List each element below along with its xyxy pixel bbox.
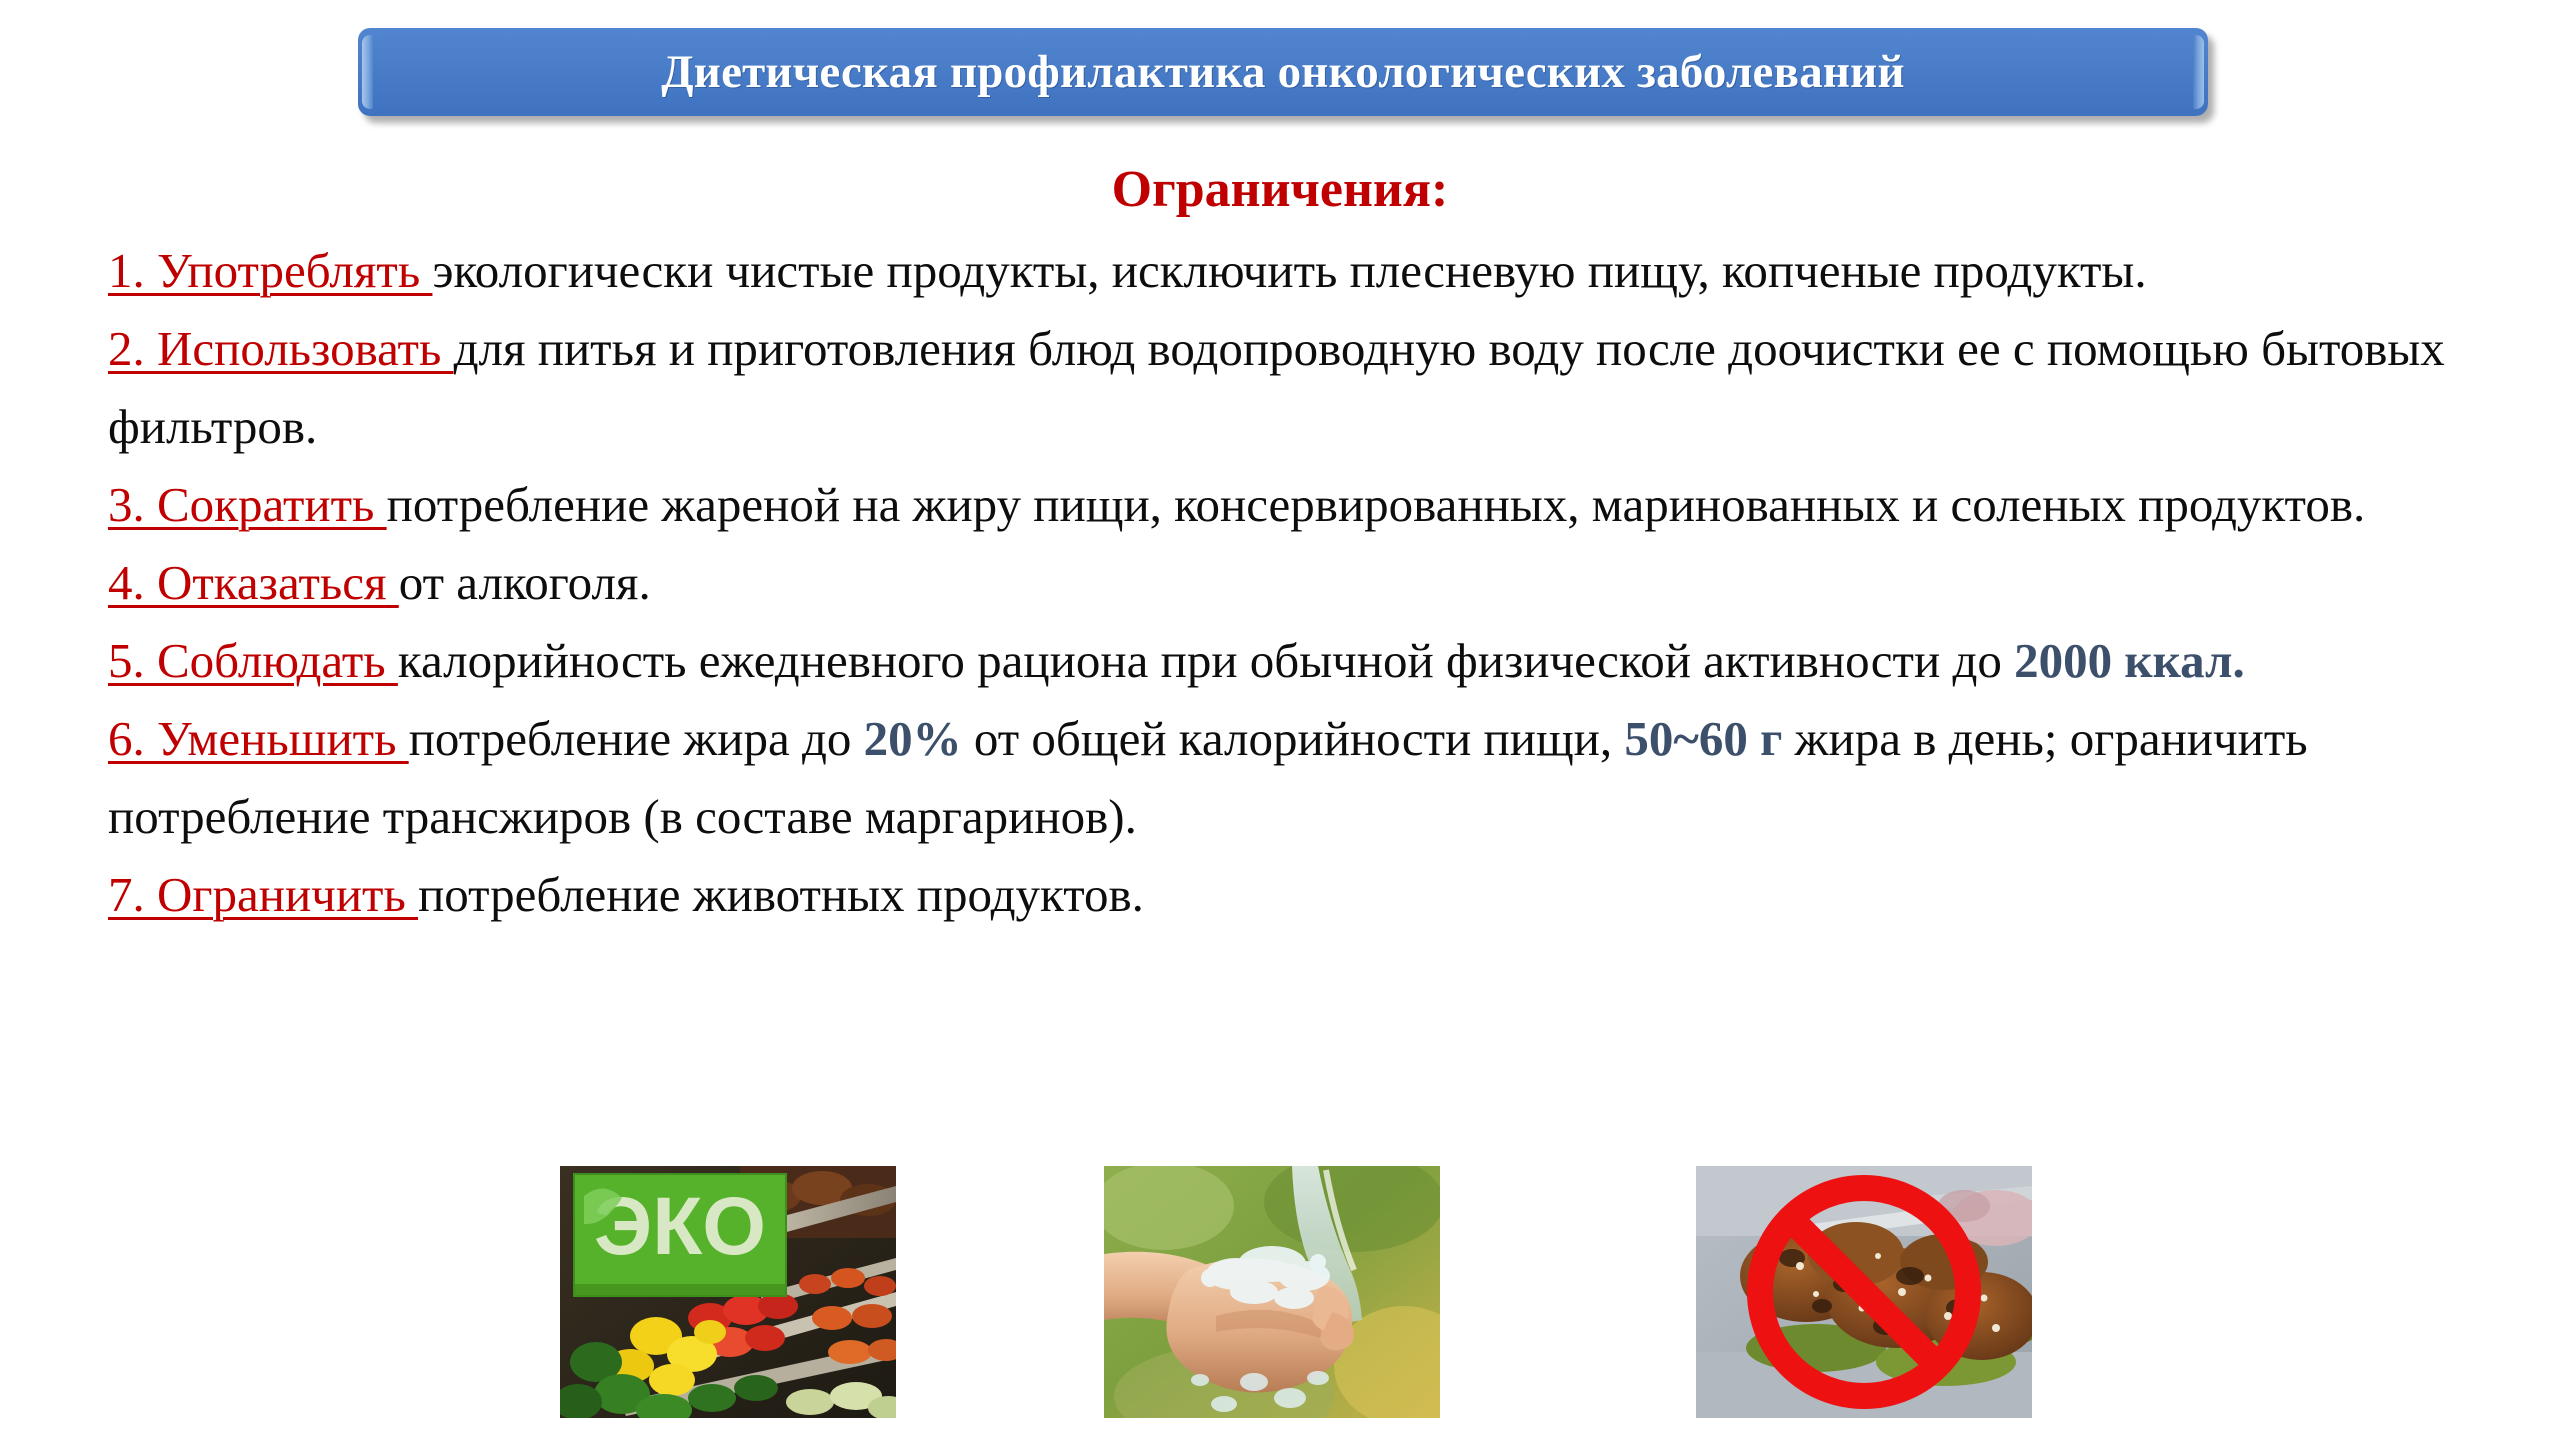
rule-lead-link: 4. Отказаться xyxy=(108,555,399,610)
list-item: 1. Употреблять экологически чистые проду… xyxy=(108,232,2508,310)
rule-highlight-value: 20% xyxy=(864,711,962,766)
list-item: 2. Использовать для питья и приготовлени… xyxy=(108,310,2508,466)
rule-text: от общей калорийности пищи, xyxy=(962,711,1625,766)
rule-lead-link: 1. Употреблять xyxy=(108,243,432,298)
restrictions-heading: Ограничения: xyxy=(0,160,2560,219)
rule-text: от алкоголя. xyxy=(399,555,651,610)
list-item: 6. Уменьшить потребление жира до 20% от … xyxy=(108,700,2508,856)
rule-lead-link: 6. Уменьшить xyxy=(108,711,409,766)
rule-text: для питья и приготовления блюд водопрово… xyxy=(108,321,2445,454)
rule-highlight-value: 50~60 г xyxy=(1624,711,1782,766)
fried-meat-prohibited-photo xyxy=(1696,1166,2032,1418)
slide-title-text: Диетическая профилактика онкологических … xyxy=(661,45,1904,99)
list-item: 4. Отказаться от алкоголя. xyxy=(108,544,2508,622)
rule-text: потребление жареной на жиру пищи, консер… xyxy=(387,477,2366,532)
list-item: 3. Сократить потребление жареной на жиру… xyxy=(108,466,2508,544)
rule-text: калорийность ежедневного рациона при обы… xyxy=(398,633,2014,688)
photo-strip: ЭКО xyxy=(0,1166,2560,1426)
list-item: 5. Соблюдать калорийность ежедневного ра… xyxy=(108,622,2508,700)
rule-highlight-value: . xyxy=(2233,633,2245,688)
eco-sign-label: ЭКО xyxy=(594,1181,766,1272)
rule-text: экологически чистые продукты, исключить … xyxy=(432,243,2146,298)
rule-highlight-value: 2000 ккал xyxy=(2014,633,2232,688)
hands-water-photo xyxy=(1104,1166,1440,1418)
rule-lead-link: 7. Ограничить xyxy=(108,867,418,922)
rule-text: потребление животных продуктов. xyxy=(418,867,1144,922)
eco-produce-photo: ЭКО xyxy=(560,1166,896,1418)
restrictions-list: 1. Употреблять экологически чистые проду… xyxy=(108,232,2508,934)
list-item: 7. Ограничить потребление животных проду… xyxy=(108,856,2508,934)
rule-lead-link: 3. Сократить xyxy=(108,477,387,532)
rule-lead-link: 2. Использовать xyxy=(108,321,454,376)
slide-title-banner: Диетическая профилактика онкологических … xyxy=(358,28,2208,116)
rule-text: потребление жира до xyxy=(409,711,864,766)
rule-lead-link: 5. Соблюдать xyxy=(108,633,398,688)
